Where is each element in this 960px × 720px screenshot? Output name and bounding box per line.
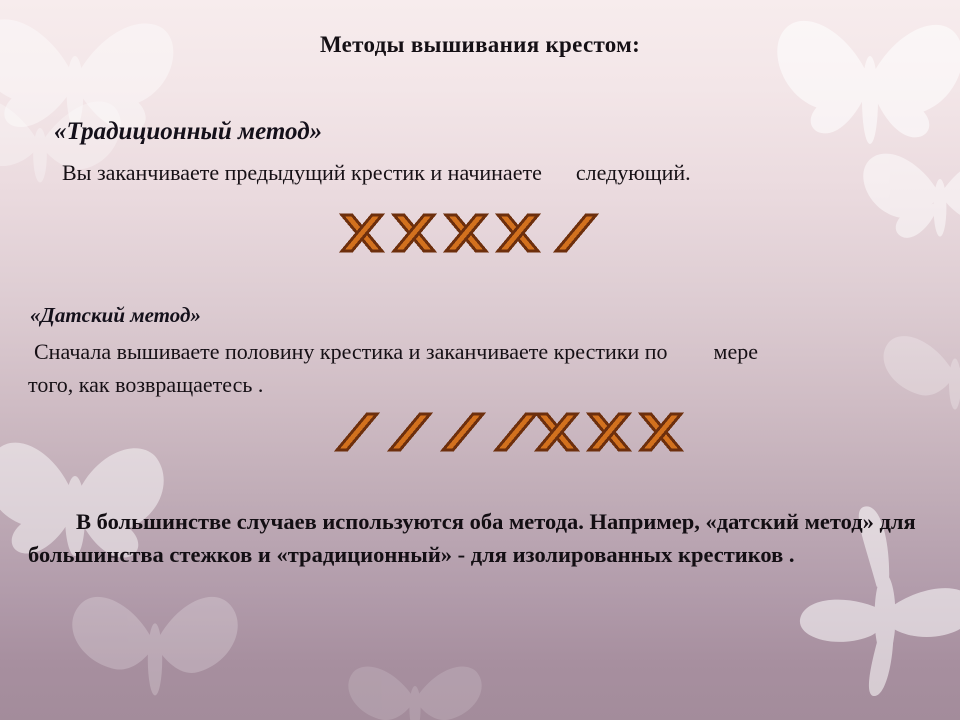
butterfly-icon <box>0 0 190 180</box>
stitch-half-forward <box>496 414 536 450</box>
danish-method-heading: «Датский метод» <box>30 303 201 328</box>
traditional-stitch-diagram <box>336 203 626 265</box>
danish-description-main: Сначала вышиваете половину крестика и за… <box>34 339 668 364</box>
traditional-description-main: Вы заканчиваете предыдущий крестик и нач… <box>62 160 542 185</box>
danish-method-description-line1: Сначала вышиваете половину крестика и за… <box>34 338 758 366</box>
stitch-cross <box>446 215 486 251</box>
stitch-cross <box>641 414 681 450</box>
butterfly-icon <box>760 0 960 180</box>
slide-title: Методы вышивания крестом: <box>0 32 960 58</box>
traditional-method-description: Вы заканчиваете предыдущий крестик и нач… <box>62 159 691 187</box>
presentation-slide: Методы вышивания крестом: «Традиционный … <box>0 0 960 720</box>
stitch-half-forward <box>556 215 596 251</box>
butterfly-icon <box>60 555 250 720</box>
stitch-half-forward <box>337 414 377 450</box>
stitch-cross <box>498 215 538 251</box>
summary-paragraph: В большинстве случаев используются оба м… <box>28 505 918 571</box>
traditional-method-heading: «Традиционный метод» <box>54 118 322 146</box>
butterfly-icon <box>855 115 960 275</box>
danish-method-description-line2: того, как возвращаетесь . <box>28 371 263 399</box>
danish-stitch-diagram <box>331 402 701 464</box>
stitch-half-forward <box>390 414 430 450</box>
butterfly-icon <box>330 630 500 720</box>
traditional-description-tail: следующий. <box>576 160 691 185</box>
summary-text: В большинстве случаев используются оба м… <box>28 509 916 567</box>
butterfly-icon <box>880 300 960 450</box>
stitch-cross <box>342 215 382 251</box>
stitch-half-forward <box>443 414 483 450</box>
danish-description-tail: мере <box>714 339 758 364</box>
stitch-cross <box>589 414 629 450</box>
stitch-cross <box>537 414 577 450</box>
stitch-cross <box>394 215 434 251</box>
